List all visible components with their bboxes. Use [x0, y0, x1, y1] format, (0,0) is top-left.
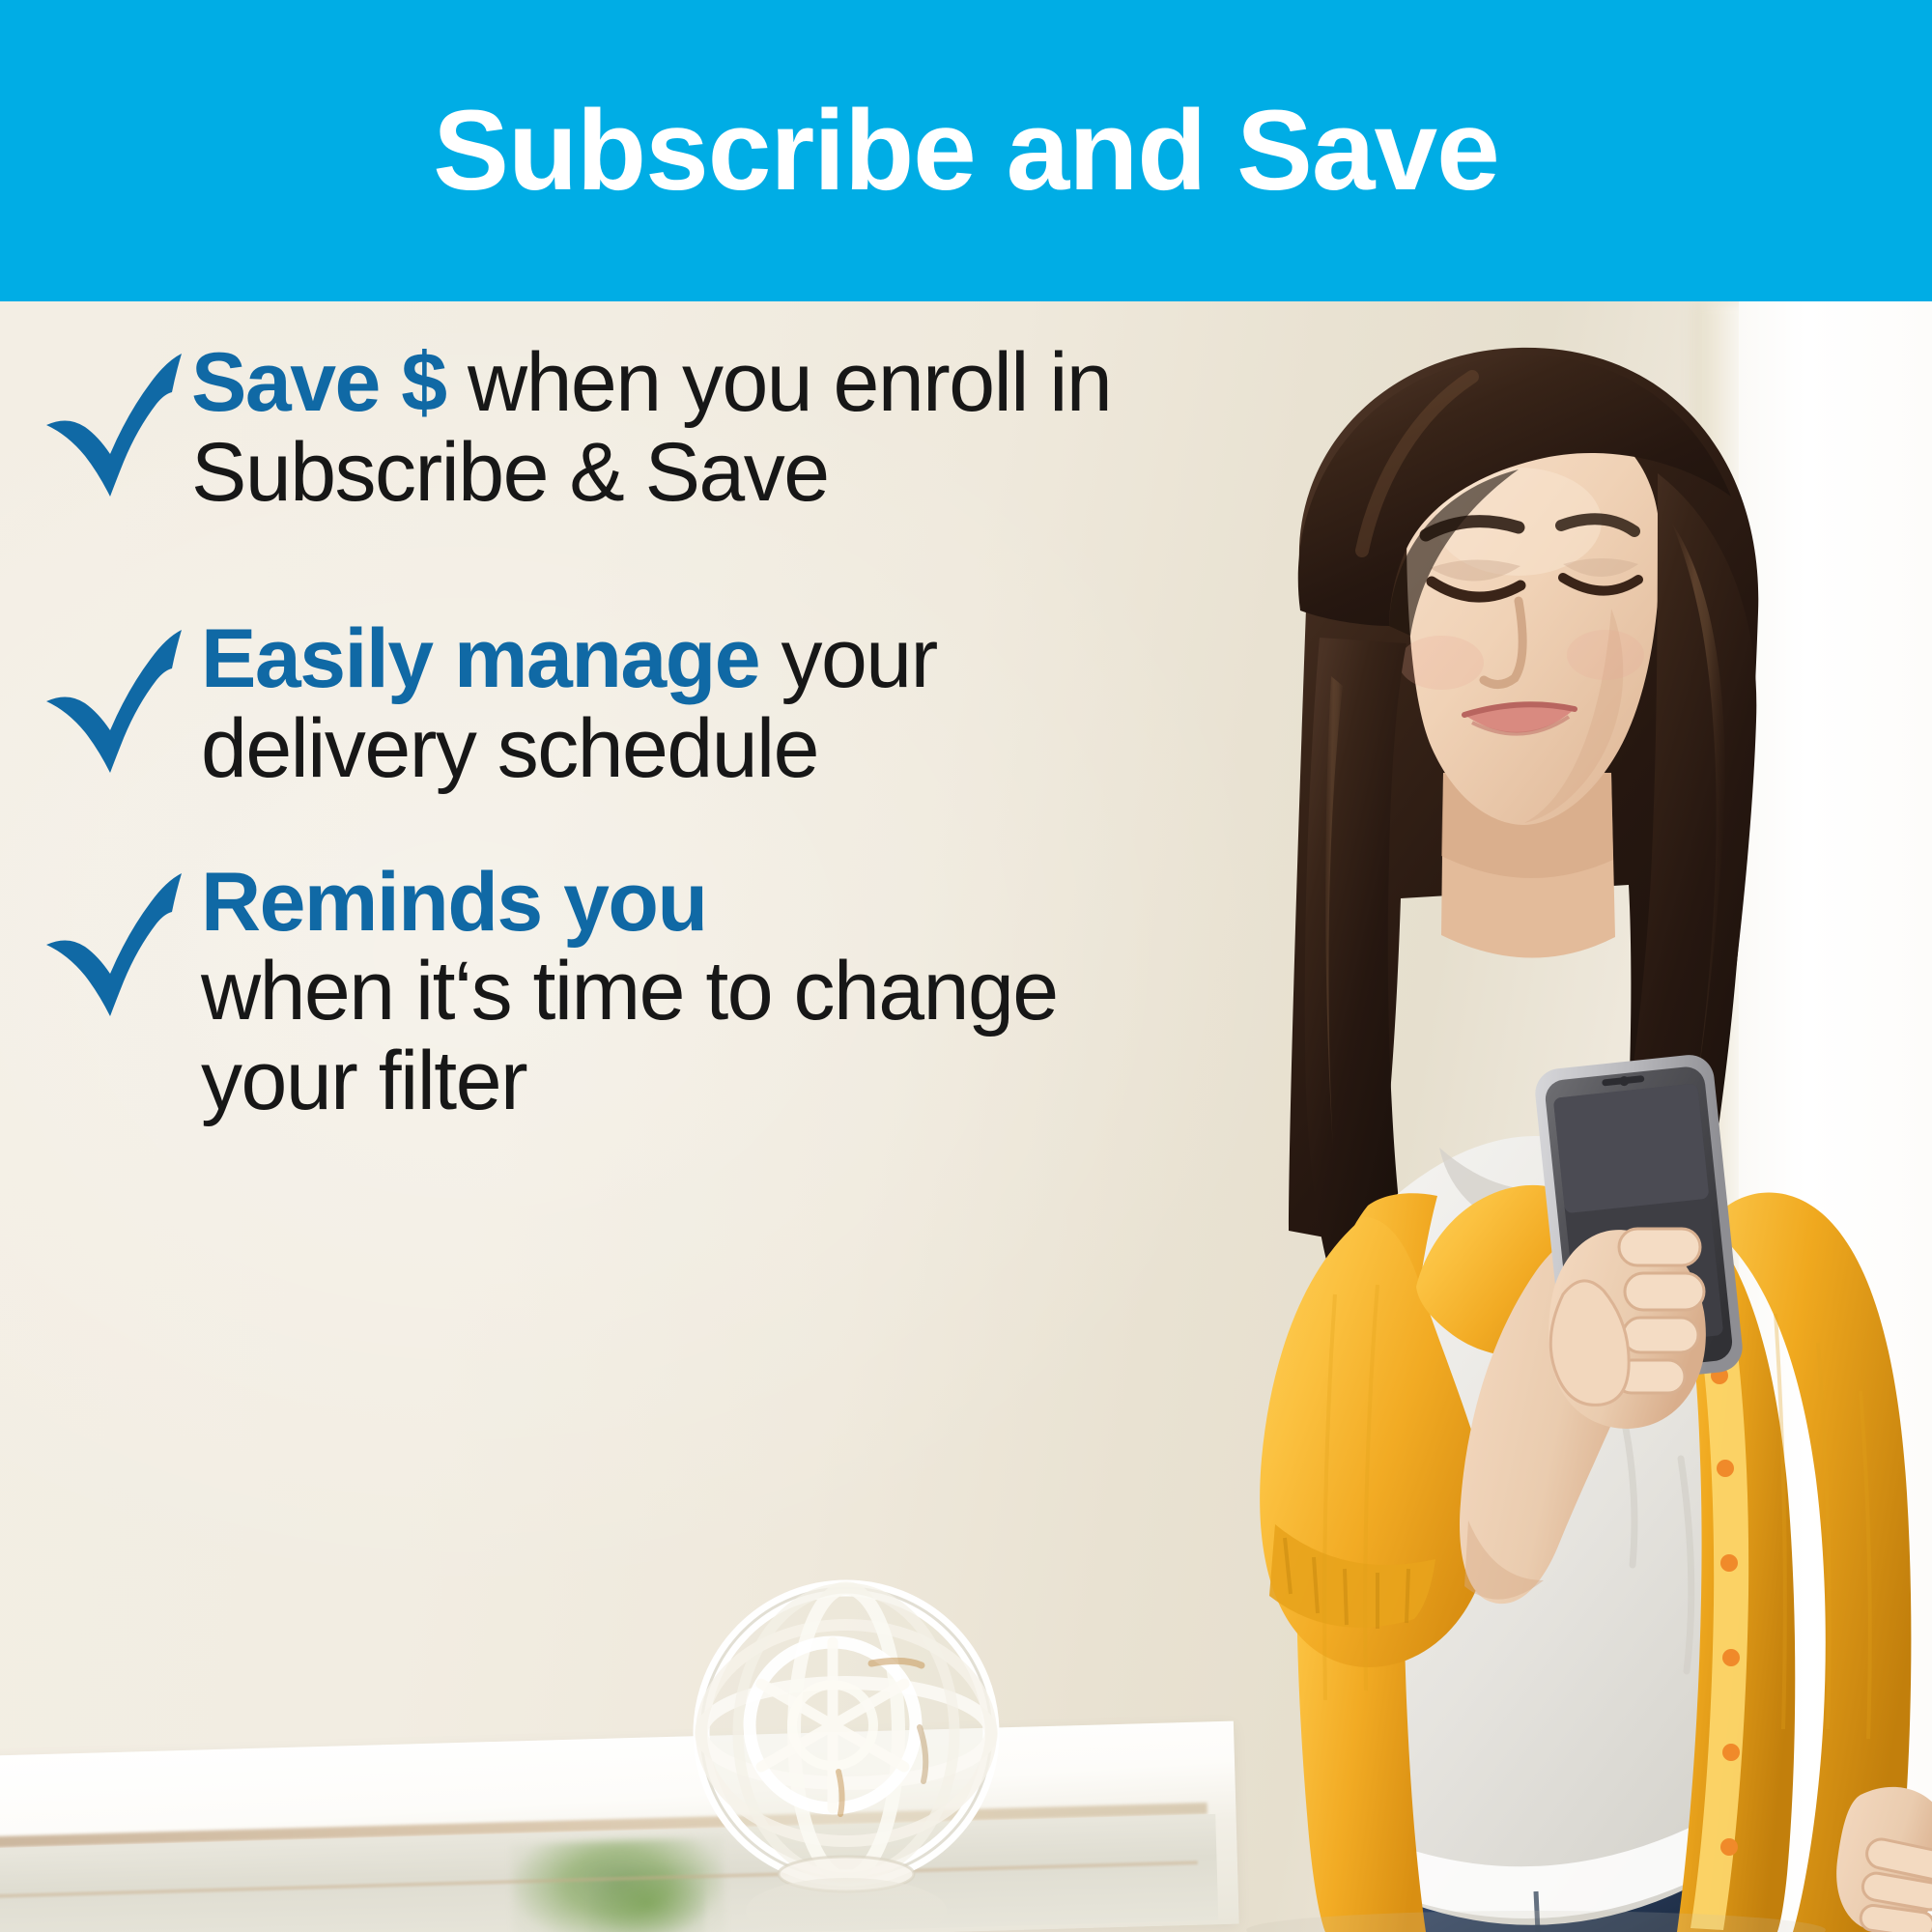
list-item: Save $ when you enroll in Subscribe & Sa… [43, 338, 1198, 518]
list-item-highlight: Easily manage [201, 612, 759, 705]
list-item-text: Reminds youwhen it‘s time to change your… [201, 858, 1198, 1127]
promo-banner-image: Subscribe and Save Save $ when you enrol… [0, 0, 1932, 1932]
checkmark-icon [43, 354, 187, 498]
list-item-highlight: Save $ [191, 336, 446, 429]
checkmark-icon [43, 630, 187, 775]
decorative-lattice-sphere-icon [667, 1563, 1026, 1932]
list-item-text: Easily manage your delivery schedule [201, 614, 1198, 794]
benefits-list: Save $ when you enroll in Subscribe & Sa… [0, 301, 1198, 1364]
checkmark-icon [43, 873, 187, 1018]
list-item-highlight: Reminds you [201, 858, 1198, 948]
page-title: Subscribe and Save [433, 94, 1498, 208]
header-banner: Subscribe and Save [0, 0, 1932, 301]
list-item: Reminds youwhen it‘s time to change your… [43, 858, 1198, 1127]
woman-holding-smartphone [1082, 319, 1932, 1932]
list-item-text: Save $ when you enroll in Subscribe & Sa… [191, 338, 1198, 518]
list-item: Easily manage your delivery schedule [43, 614, 1198, 794]
list-item-rest: when it‘s time to change your filter [201, 945, 1058, 1127]
